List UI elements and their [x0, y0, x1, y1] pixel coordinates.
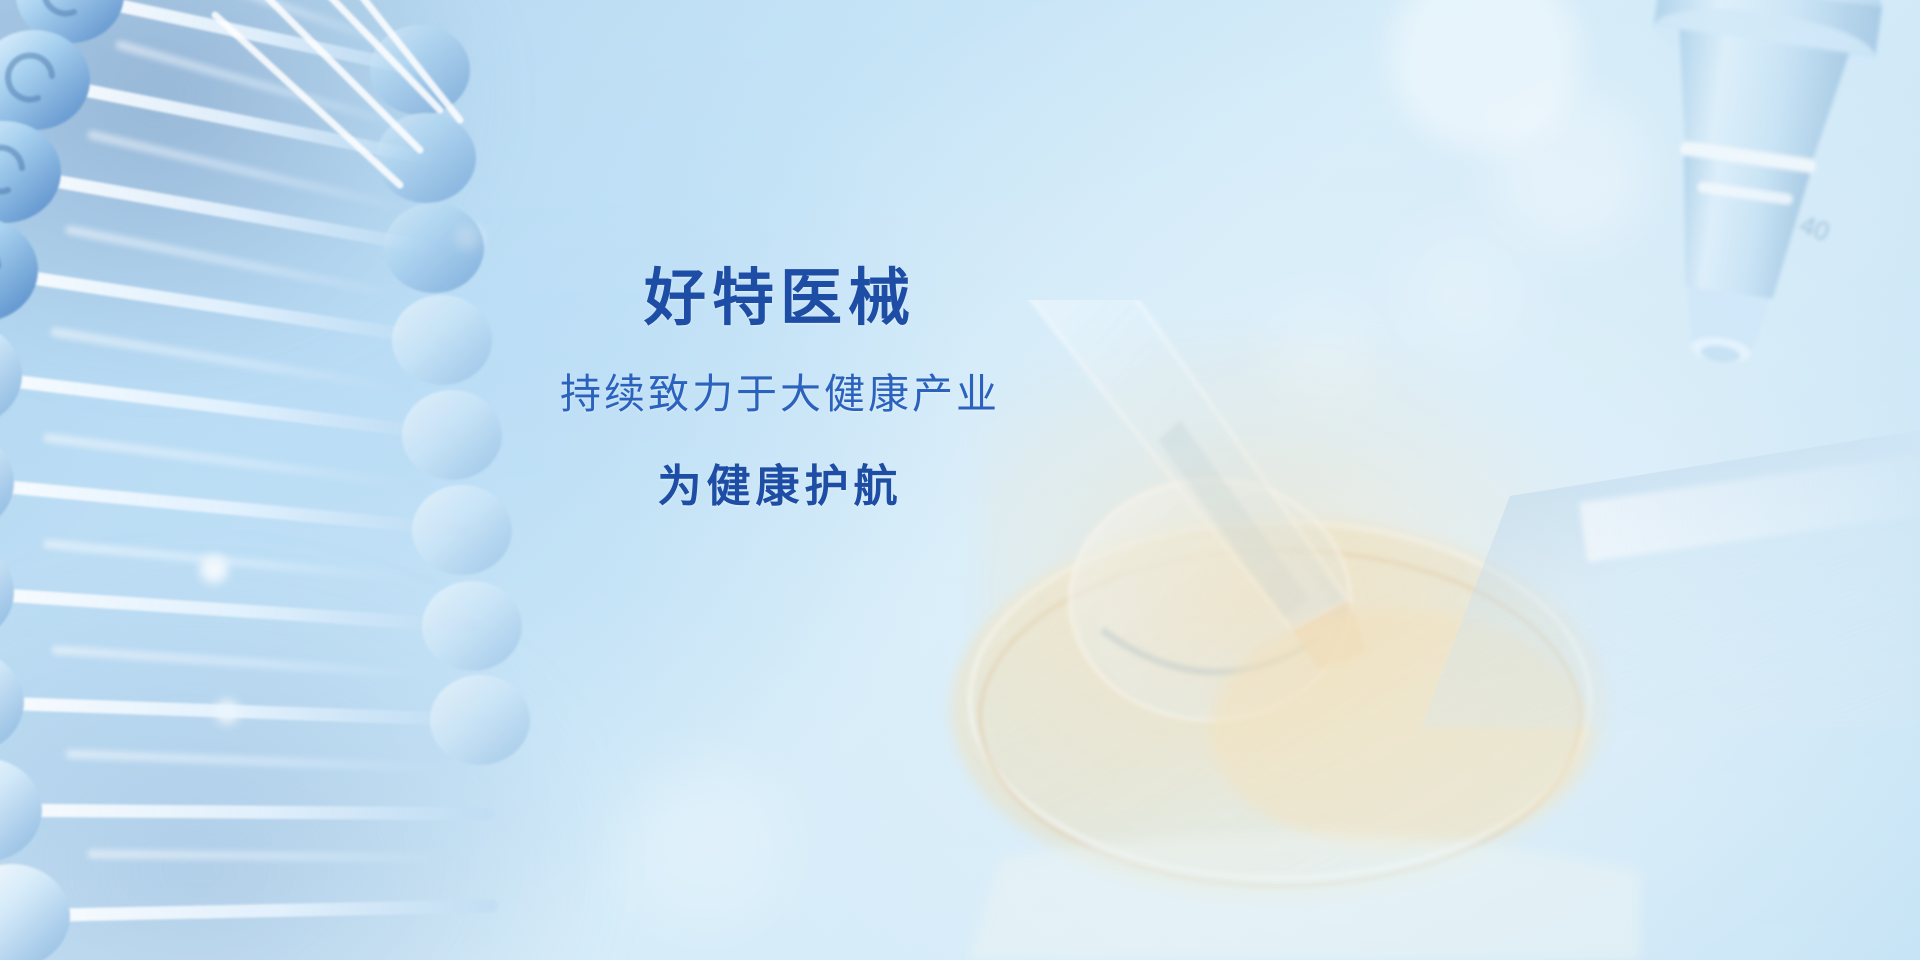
microscope-magnification-label: 40	[1796, 209, 1833, 247]
hero-subtitle: 持续致力于大健康产业	[560, 374, 1000, 415]
hero-banner: 40	[0, 0, 1920, 960]
hero-copy-block: 好特医械 持续致力于大健康产业 为健康护航	[430, 268, 1130, 509]
page-title: 好特医械	[644, 268, 916, 330]
hero-tagline: 为健康护航	[658, 465, 903, 509]
bokeh-circle	[620, 760, 790, 930]
